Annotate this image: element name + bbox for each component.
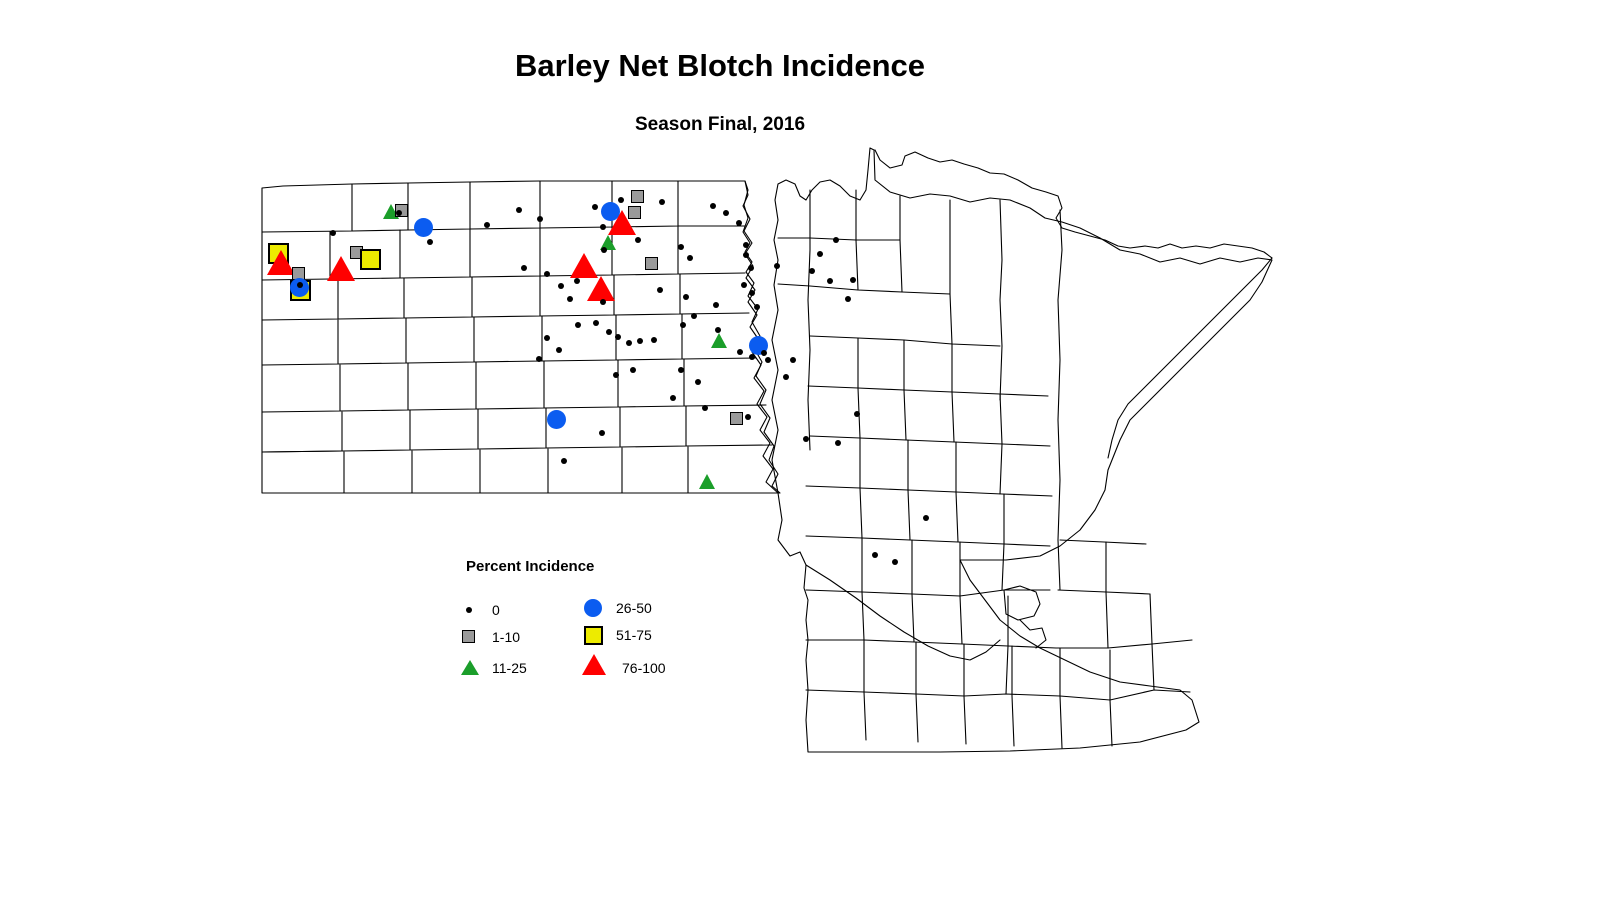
map-point-0 [516,207,522,213]
legend: Percent Incidence 0 1-10 11-25 26-50 51-… [450,552,700,687]
legend-symbol-blue-circle-icon [582,598,608,618]
map-point-0 [749,290,755,296]
data-points-layer [0,0,1612,900]
map-point-0 [743,242,749,248]
map-point-0 [600,299,606,305]
map-point-0 [427,239,433,245]
map-point-0 [537,216,543,222]
map-point-0 [330,230,336,236]
map-point-0 [637,338,643,344]
map-point-0 [601,247,607,253]
legend-symbol-green-triangle-icon [458,658,484,678]
legend-label-0: 0 [492,602,500,618]
map-point-0 [748,265,754,271]
map-point-26-50 [547,410,566,429]
map-point-0 [613,372,619,378]
map-point-0 [561,458,567,464]
map-point-0 [809,268,815,274]
map-point-11-25 [711,333,727,348]
legend-label-11-25: 11-25 [492,660,527,676]
map-point-76-100 [587,276,615,301]
map-point-0 [923,515,929,521]
map-point-0 [593,320,599,326]
map-point-0 [850,277,856,283]
map-point-0 [599,430,605,436]
map-point-0 [567,296,573,302]
map-point-0 [835,440,841,446]
map-point-51-75 [360,249,381,270]
legend-label-51-75: 51-75 [616,627,652,643]
map-point-0 [670,395,676,401]
map-point-0 [556,347,562,353]
map-point-26-50 [414,218,433,237]
map-point-0 [536,356,542,362]
map-point-0 [600,224,606,230]
map-point-0 [687,255,693,261]
map-point-0 [544,335,550,341]
legend-symbol-red-triangle-icon [582,654,608,674]
map-point-0 [741,282,747,288]
map-point-0 [680,322,686,328]
map-point-0 [626,340,632,346]
map-point-11-25 [699,474,715,489]
map-point-1-10 [730,412,743,425]
map-point-0 [754,304,760,310]
map-point-0 [396,210,402,216]
map-point-0 [749,354,755,360]
map-point-0 [558,283,564,289]
map-point-0 [691,313,697,319]
map-point-0 [678,367,684,373]
legend-label-26-50: 26-50 [616,600,652,616]
map-canvas [0,0,1612,900]
map-point-0 [845,296,851,302]
map-point-0 [544,271,550,277]
map-point-0 [872,552,878,558]
map-point-0 [297,282,303,288]
legend-label-1-10: 1-10 [492,629,520,645]
map-point-0 [710,203,716,209]
map-point-0 [678,244,684,250]
map-point-0 [817,251,823,257]
map-point-0 [827,278,833,284]
map-point-0 [618,197,624,203]
map-point-0 [606,329,612,335]
legend-symbol-gray-square-icon [458,627,484,647]
map-point-0 [575,322,581,328]
legend-symbol-yellow-square-icon [582,625,608,645]
legend-label-76-100: 76-100 [622,660,666,676]
map-point-0 [745,414,751,420]
map-point-0 [615,334,621,340]
map-point-0 [592,204,598,210]
map-point-1-10 [645,257,658,270]
map-point-0 [651,337,657,343]
map-point-0 [574,278,580,284]
map-point-0 [683,294,689,300]
map-point-0 [484,222,490,228]
map-point-0 [783,374,789,380]
map-point-0 [737,349,743,355]
figure-root: Barley Net Blotch Incidence Season Final… [0,0,1612,900]
map-point-0 [695,379,701,385]
map-point-1-10 [628,206,641,219]
map-point-0 [854,411,860,417]
map-point-0 [803,436,809,442]
map-point-0 [659,199,665,205]
map-point-1-10 [631,190,644,203]
map-point-0 [630,367,636,373]
map-point-0 [833,237,839,243]
map-point-0 [521,265,527,271]
map-point-0 [761,350,767,356]
map-point-0 [736,220,742,226]
map-point-0 [713,302,719,308]
map-point-76-100 [327,256,355,281]
map-point-0 [892,559,898,565]
map-point-0 [743,252,749,258]
map-point-0 [774,263,780,269]
legend-title: Percent Incidence [466,558,594,575]
map-point-76-100 [570,253,598,278]
map-point-0 [657,287,663,293]
map-point-0 [723,210,729,216]
map-point-0 [702,405,708,411]
map-point-0 [765,357,771,363]
map-point-0 [790,357,796,363]
legend-symbol-black-dot-icon [458,600,484,620]
map-point-0 [635,237,641,243]
